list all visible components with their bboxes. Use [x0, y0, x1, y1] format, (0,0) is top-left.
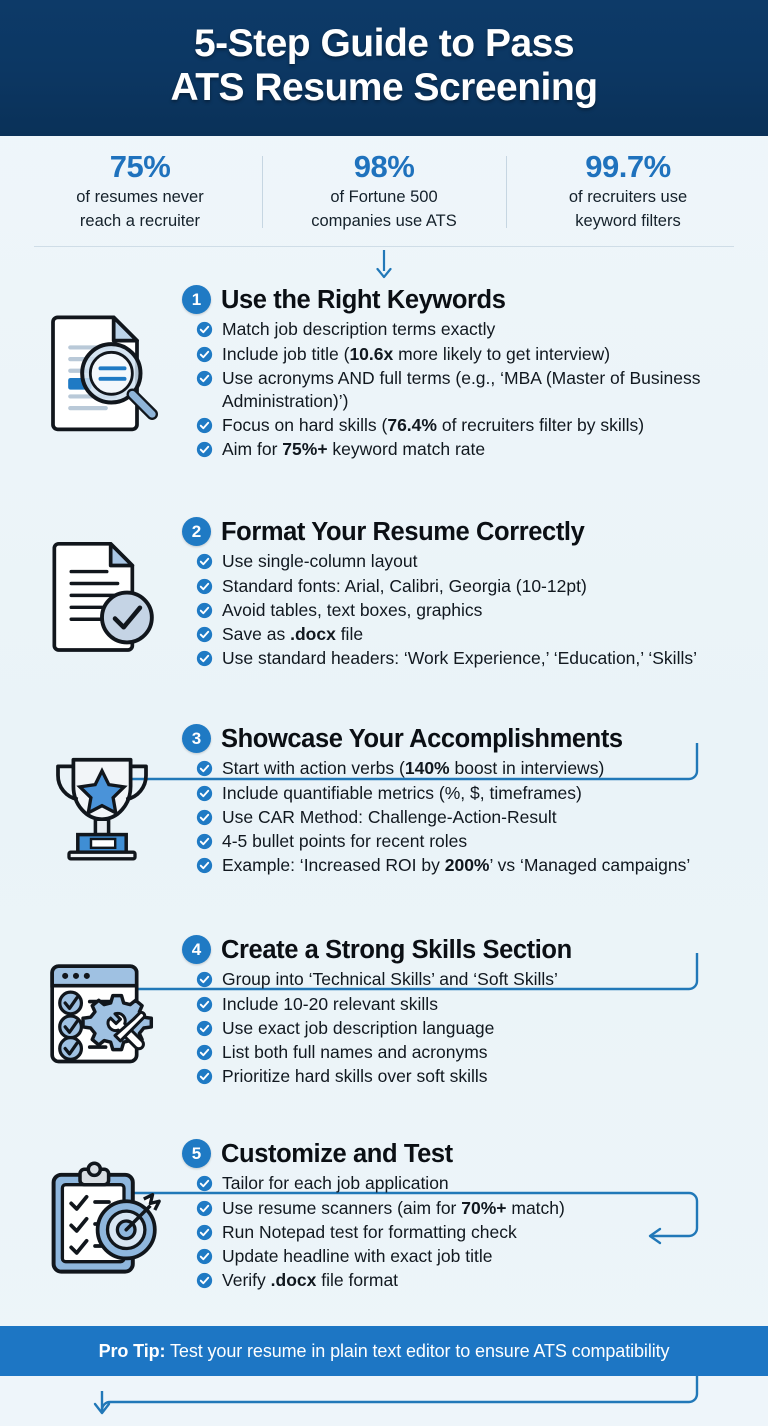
bullet-text: Use standard headers: ‘Work Experience,’… — [222, 647, 697, 670]
bullet-text: Run Notepad test for formatting check — [222, 1221, 517, 1244]
check-circle-icon — [196, 1020, 213, 1037]
check-circle-icon — [196, 578, 213, 595]
stat-caption-line1: of resumes never — [24, 187, 256, 208]
bullet-text: Update headline with exact job title — [222, 1245, 492, 1268]
bullet-item: Focus on hard skills (76.4% of recruiter… — [182, 414, 754, 437]
bullet-text: Example: ‘Increased ROI by 200%’ vs ‘Man… — [222, 854, 690, 877]
check-circle-icon — [196, 626, 213, 643]
stat-caption-line2: companies use ATS — [268, 211, 500, 232]
step-2-header: 2 Format Your Resume Correctly — [182, 517, 754, 546]
bullet-text: Start with action verbs (140% boost in i… — [222, 757, 604, 780]
bullet-text: Match job description terms exactly — [222, 318, 495, 341]
bullet-item: Use exact job description language — [182, 1017, 754, 1040]
bullet-item: Start with action verbs (140% boost in i… — [182, 757, 754, 780]
step-1-icon-col — [22, 281, 182, 441]
stat-item-0: 75% of resumes never reach a recruiter — [18, 150, 262, 232]
bullet-text: Standard fonts: Arial, Calibri, Georgia … — [222, 575, 587, 598]
step-4: 4 Create a Strong Skills Section Group i… — [0, 931, 768, 1101]
footer-text: Pro Tip: Test your resume in plain text … — [99, 1342, 670, 1360]
step-3-body: 3 Showcase Your Accomplishments Start wi… — [182, 720, 754, 878]
bullet-text: Include 10-20 relevant skills — [222, 993, 438, 1016]
check-circle-icon — [196, 1175, 213, 1192]
check-circle-icon — [196, 857, 213, 874]
step-title: Format Your Resume Correctly — [221, 518, 584, 546]
bullet-item: Group into ‘Technical Skills’ and ‘Soft … — [182, 968, 754, 991]
step-2-body: 2 Format Your Resume Correctly Use singl… — [182, 513, 754, 671]
step-4-bullets: Group into ‘Technical Skills’ and ‘Soft … — [182, 968, 754, 1088]
check-circle-icon — [196, 1272, 213, 1289]
bullet-item: Use acronyms AND full terms (e.g., ‘MBA … — [182, 367, 754, 413]
stat-number: 75% — [24, 150, 256, 184]
step-1-bullets: Match job description terms exactlyInclu… — [182, 318, 754, 461]
bullet-item: Match job description terms exactly — [182, 318, 754, 341]
stat-caption-line2: keyword filters — [512, 211, 744, 232]
page-title: 5-Step Guide to Pass ATS Resume Screenin… — [170, 22, 597, 109]
steps-container: 1 Use the Right Keywords Match job descr… — [0, 281, 768, 1305]
bullet-item: 4-5 bullet points for recent roles — [182, 830, 754, 853]
stat-item-1: 98% of Fortune 500 companies use ATS — [262, 150, 506, 232]
step-title: Use the Right Keywords — [221, 286, 506, 314]
step-number-badge: 3 — [182, 724, 211, 753]
check-circle-icon — [196, 346, 213, 363]
step-title: Customize and Test — [221, 1140, 453, 1168]
step-2-bullets: Use single-column layoutStandard fonts: … — [182, 550, 754, 670]
document-magnifier-icon — [32, 301, 172, 441]
check-circle-icon — [196, 760, 213, 777]
bullet-text: Aim for 75%+ keyword match rate — [222, 438, 485, 461]
step-number-badge: 4 — [182, 935, 211, 964]
check-circle-icon — [196, 833, 213, 850]
bullet-text: Avoid tables, text boxes, graphics — [222, 599, 482, 622]
stat-number: 98% — [268, 150, 500, 184]
stat-caption-line1: of recruiters use — [512, 187, 744, 208]
bullet-item: Include job title (10.6x more likely to … — [182, 343, 754, 366]
bullet-item: Update headline with exact job title — [182, 1245, 754, 1268]
step-5: 5 Customize and Test Tailor for each job… — [0, 1135, 768, 1305]
footer-pro-tip: Pro Tip: Test your resume in plain text … — [0, 1326, 768, 1376]
header-banner: 5-Step Guide to Pass ATS Resume Screenin… — [0, 0, 768, 136]
step-5-body: 5 Customize and Test Tailor for each job… — [182, 1135, 754, 1293]
step-4-header: 4 Create a Strong Skills Section — [182, 935, 754, 964]
step-5-bullets: Tailor for each job applicationUse resum… — [182, 1172, 754, 1292]
bullet-item: Example: ‘Increased ROI by 200%’ vs ‘Man… — [182, 854, 754, 877]
bullet-text: Group into ‘Technical Skills’ and ‘Soft … — [222, 968, 558, 991]
check-circle-icon — [196, 553, 213, 570]
bullet-text: Use resume scanners (aim for 70%+ match) — [222, 1197, 565, 1220]
check-circle-icon — [196, 1068, 213, 1085]
bullet-text: Include job title (10.6x more likely to … — [222, 343, 610, 366]
bullet-item: Include 10-20 relevant skills — [182, 993, 754, 1016]
bullet-text: List both full names and acronyms — [222, 1041, 488, 1064]
check-circle-icon — [196, 785, 213, 802]
bullet-item: Use standard headers: ‘Work Experience,’… — [182, 647, 754, 670]
trophy-icon — [36, 740, 168, 872]
footer-body: Test your resume in plain text editor to… — [165, 1341, 669, 1361]
bullet-text: 4-5 bullet points for recent roles — [222, 830, 467, 853]
step-3-bullets: Start with action verbs (140% boost in i… — [182, 757, 754, 877]
page-title-line1: 5-Step Guide to Pass — [194, 22, 574, 65]
step-1-header: 1 Use the Right Keywords — [182, 285, 754, 314]
check-circle-icon — [196, 441, 213, 458]
bullet-item: Save as .docx file — [182, 623, 754, 646]
step-3: 3 Showcase Your Accomplishments Start wi… — [0, 720, 768, 895]
check-circle-icon — [196, 1248, 213, 1265]
check-circle-icon — [196, 996, 213, 1013]
stats-bar: 75% of resumes never reach a recruiter 9… — [0, 136, 768, 238]
check-circle-icon — [196, 971, 213, 988]
check-circle-icon — [196, 417, 213, 434]
bullet-item: Include quantifiable metrics (%, $, time… — [182, 782, 754, 805]
stat-caption-line2: reach a recruiter — [24, 211, 256, 232]
step-2: 2 Format Your Resume Correctly Use singl… — [0, 513, 768, 688]
stat-caption-line1: of Fortune 500 — [268, 187, 500, 208]
step-number-badge: 2 — [182, 517, 211, 546]
check-circle-icon — [196, 1200, 213, 1217]
check-circle-icon — [196, 602, 213, 619]
bullet-text: Verify .docx file format — [222, 1269, 398, 1292]
check-circle-icon — [196, 370, 213, 387]
check-circle-icon — [196, 1224, 213, 1241]
clipboard-target-icon — [36, 1155, 168, 1287]
step-number-badge: 5 — [182, 1139, 211, 1168]
step-3-header: 3 Showcase Your Accomplishments — [182, 724, 754, 753]
bullet-item: Use resume scanners (aim for 70%+ match) — [182, 1197, 754, 1220]
flow-arrow-down-top — [0, 247, 768, 281]
step-4-body: 4 Create a Strong Skills Section Group i… — [182, 931, 754, 1089]
step-5-header: 5 Customize and Test — [182, 1139, 754, 1168]
step-title: Showcase Your Accomplishments — [221, 725, 623, 753]
bullet-text: Include quantifiable metrics (%, $, time… — [222, 782, 582, 805]
step-4-icon-col — [22, 931, 182, 1081]
page-title-line2: ATS Resume Screening — [170, 66, 597, 110]
bullet-text: Prioritize hard skills over soft skills — [222, 1065, 487, 1088]
bullet-text: Focus on hard skills (76.4% of recruiter… — [222, 414, 644, 437]
bullet-text: Tailor for each job application — [222, 1172, 449, 1195]
connector-4-arrow — [0, 1389, 768, 1421]
bullet-text: Use acronyms AND full terms (e.g., ‘MBA … — [222, 367, 754, 413]
bullet-item: Tailor for each job application — [182, 1172, 754, 1195]
bullet-item: Use single-column layout — [182, 550, 754, 573]
check-circle-icon — [196, 321, 213, 338]
bullet-item: Run Notepad test for formatting check — [182, 1221, 754, 1244]
step-title: Create a Strong Skills Section — [221, 936, 572, 964]
footer-label: Pro Tip: — [99, 1341, 166, 1361]
step-2-icon-col — [22, 513, 182, 663]
step-5-icon-col — [22, 1135, 182, 1287]
step-3-icon-col — [22, 720, 182, 872]
bullet-text: Save as .docx file — [222, 623, 363, 646]
checklist-gear-icon — [37, 951, 167, 1081]
bullet-text: Use single-column layout — [222, 550, 418, 573]
bullet-item: Prioritize hard skills over soft skills — [182, 1065, 754, 1088]
stat-number: 99.7% — [512, 150, 744, 184]
check-circle-icon — [196, 650, 213, 667]
infographic-page: 5-Step Guide to Pass ATS Resume Screenin… — [0, 0, 768, 1376]
document-check-icon — [37, 533, 167, 663]
bullet-item: List both full names and acronyms — [182, 1041, 754, 1064]
bullet-item: Avoid tables, text boxes, graphics — [182, 599, 754, 622]
check-circle-icon — [196, 1044, 213, 1061]
bullet-text: Use exact job description language — [222, 1017, 494, 1040]
bullet-item: Verify .docx file format — [182, 1269, 754, 1292]
check-circle-icon — [196, 809, 213, 826]
bullet-item: Use CAR Method: Challenge-Action-Result — [182, 806, 754, 829]
step-1: 1 Use the Right Keywords Match job descr… — [0, 281, 768, 481]
step-1-body: 1 Use the Right Keywords Match job descr… — [182, 281, 754, 462]
bullet-item: Aim for 75%+ keyword match rate — [182, 438, 754, 461]
step-number-badge: 1 — [182, 285, 211, 314]
bullet-item: Standard fonts: Arial, Calibri, Georgia … — [182, 575, 754, 598]
stat-item-2: 99.7% of recruiters use keyword filters — [506, 150, 750, 232]
bullet-text: Use CAR Method: Challenge-Action-Result — [222, 806, 557, 829]
